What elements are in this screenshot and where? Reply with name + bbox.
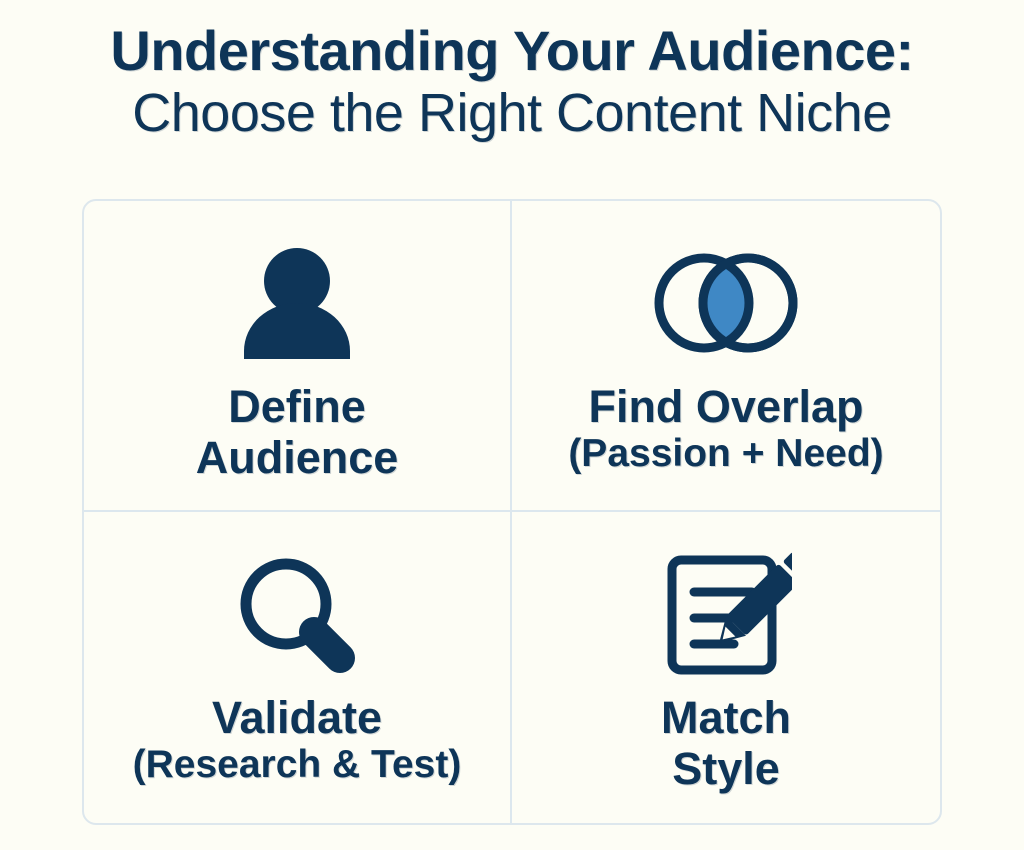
grid-cell-validate[interactable]: Validate (Research & Test): [84, 512, 512, 823]
grid-cell-define-audience[interactable]: Define Audience: [84, 201, 512, 512]
cell-label-line1: Validate: [133, 692, 462, 743]
document-pencil-icon: [660, 550, 792, 678]
cell-label-line1: Define: [196, 381, 399, 432]
cell-label-line2: (Research & Test): [133, 743, 462, 787]
page-title: Understanding Your Audience: Choose the …: [0, 20, 1024, 143]
cell-label-find-overlap: Find Overlap (Passion + Need): [568, 381, 883, 477]
infographic-poster: Understanding Your Audience: Choose the …: [0, 0, 1024, 850]
person-icon: [238, 239, 356, 367]
cell-label-line1: Match: [661, 692, 791, 743]
quadrant-grid: Define Audience: [82, 199, 942, 825]
venn-overlap-icon: [646, 239, 806, 367]
title-line-1: Understanding Your Audience:: [0, 20, 1024, 83]
cell-label-define-audience: Define Audience: [196, 381, 399, 484]
cell-label-line1: Find Overlap: [568, 381, 883, 432]
cell-label-line2: Audience: [196, 432, 399, 483]
cell-label-line2: Style: [661, 743, 791, 794]
grid-cell-find-overlap[interactable]: Find Overlap (Passion + Need): [512, 201, 940, 512]
grid-cell-match-style[interactable]: Match Style: [512, 512, 940, 823]
title-line-2: Choose the Right Content Niche: [0, 83, 1024, 143]
cell-label-validate: Validate (Research & Test): [133, 692, 462, 788]
cell-label-line2: (Passion + Need): [568, 432, 883, 476]
magnifying-glass-icon: [234, 550, 360, 678]
cell-label-match-style: Match Style: [661, 692, 791, 795]
